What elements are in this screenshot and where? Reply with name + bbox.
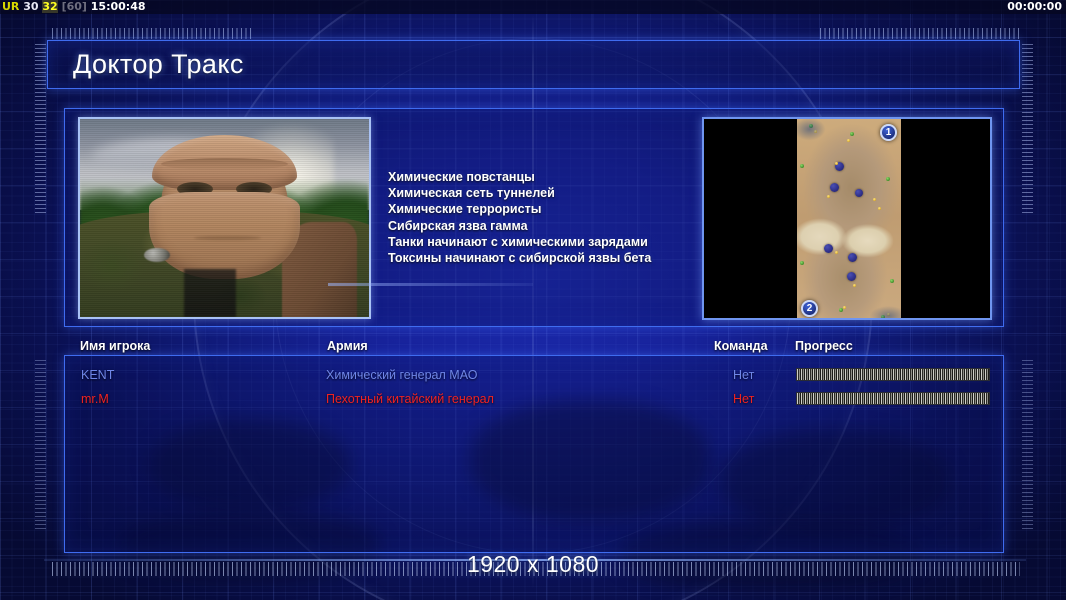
column-header-team: Команда [714,339,768,353]
resolution-label: 1920 x 1080 [0,551,1066,578]
player-team: Нет [733,387,754,411]
portrait-gear-knob [144,248,170,262]
map-bunker [824,244,833,253]
map-start-position-1: 1 [880,124,897,141]
status-fps-cap: [60] [62,0,87,13]
general-info-panel: Химические повстанцы Химическая сеть тун… [64,108,1004,327]
map-resource [853,284,856,287]
status-bar: UR 30 32 [60] 15:00:48 00:00:00 [0,0,1066,14]
table-row[interactable]: KENT Химический генерал МАО Нет [65,363,1003,387]
title-panel: Доктор Тракс [47,40,1020,89]
game-lobby-screen: UR 30 32 [60] 15:00:48 00:00:00 Доктор Т… [0,0,1066,600]
description-line: Химические террористы [388,201,708,217]
map-resource [878,207,881,210]
general-description-list: Химические повстанцы Химическая сеть тун… [388,169,708,266]
player-progress-fill [797,369,989,380]
map-tree [890,279,894,283]
column-header-progress: Прогресс [795,339,853,353]
page-title: Доктор Тракс [73,48,244,79]
map-bunker [830,183,839,192]
description-separator [328,283,533,286]
map-bunker [835,162,844,171]
player-progress-bar [796,368,990,381]
map-tree [809,124,813,128]
map-bunker [847,272,856,281]
map-tree [800,261,804,265]
table-row[interactable]: mr.M Пехотный китайский генерал Нет [65,387,1003,411]
map-resource [843,306,846,309]
player-table-headers: Имя игрока Армия Команда Прогресс [64,339,1004,356]
map-tree [839,308,843,312]
map-tree [881,315,885,319]
status-bar-left: UR 30 32 [60] 15:00:48 [2,0,146,14]
map-tree [800,164,804,168]
map-terrain: 1 2 [797,119,901,320]
column-header-player-name: Имя игрока [80,339,150,353]
ruler-left-vertical [35,44,46,214]
description-line: Химическая сеть туннелей [388,185,708,201]
map-tree [850,132,854,136]
status-clock: 15:00:48 [91,0,146,13]
description-line: Сибирская язва гамма [388,218,708,234]
player-name: mr.M [81,387,109,411]
map-resource [873,198,876,201]
portrait-mask-fold [194,236,260,240]
map-tree [886,177,890,181]
player-name: KENT [81,363,114,387]
map-resource [847,139,850,142]
map-resource [887,313,890,316]
ruler-left-vertical-lower [35,360,46,530]
description-line: Химические повстанцы [388,169,708,185]
status-bar-right: 00:00:00 [1007,0,1062,14]
map-resource [835,251,838,254]
status-timer: 00:00:00 [1007,0,1062,13]
general-portrait [78,117,371,319]
status-fps-actual: 32 [42,0,57,13]
ruler-right-vertical-lower [1022,360,1033,530]
map-bunker [848,253,857,262]
map-start-position-2: 2 [801,300,818,317]
player-progress-fill [797,393,989,404]
description-line: Танки начинают с химическими зарядами [388,234,708,250]
status-ur-label: UR [2,0,19,13]
player-army: Пехотный китайский генерал [326,387,494,411]
map-resource [835,162,838,165]
map-resource [814,130,817,133]
player-team: Нет [733,363,754,387]
player-list-panel: KENT Химический генерал МАО Нет mr.M Пех… [64,355,1004,553]
status-fps-current: 30 [23,0,38,13]
player-progress-bar [796,392,990,405]
ruler-top-left-horizontal [52,28,252,39]
portrait-chest-strap [184,269,236,317]
description-line: Токсины начинают с сибирской язвы бета [388,250,708,266]
map-preview[interactable]: 1 2 [702,117,992,320]
ruler-right-vertical [1022,44,1033,214]
map-resource [827,195,830,198]
column-header-army: Армия [327,339,368,353]
map-bunker [855,189,863,197]
player-army: Химический генерал МАО [326,363,477,387]
ruler-top-right-horizontal [820,28,1020,39]
